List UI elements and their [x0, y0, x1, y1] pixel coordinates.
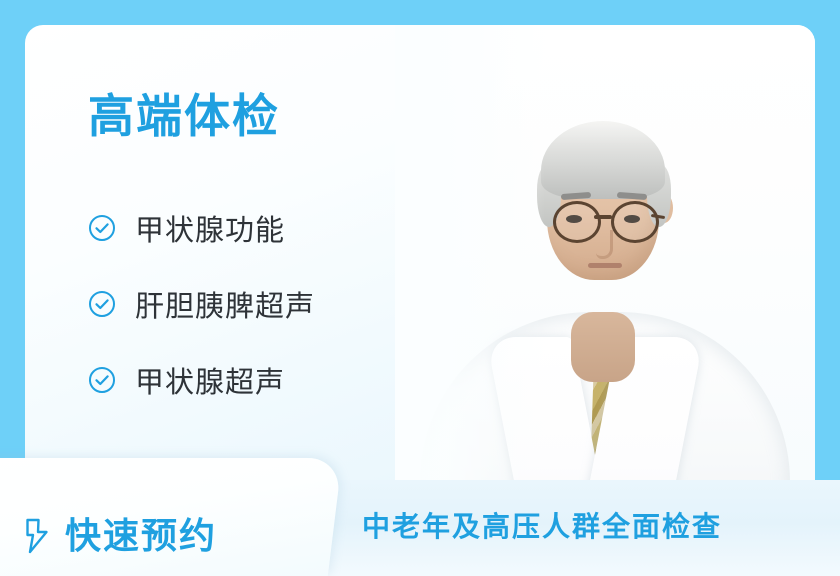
tagline: 中老年及高压人群全面检查 [362, 505, 722, 545]
feature-label: 甲状腺超声 [135, 359, 285, 401]
list-item[interactable]: 甲状腺超声 [88, 342, 315, 418]
check-circle-icon [88, 366, 116, 394]
check-circle-icon [88, 214, 116, 242]
feature-label: 肝胆胰脾超声 [135, 283, 315, 325]
check-circle-icon [88, 290, 116, 318]
list-item[interactable]: 肝胆胰脾超声 [88, 266, 315, 342]
bottom-bar: 快速预约 中老年及高压人群全面检查 [0, 480, 840, 576]
quick-booking-label: 快速预约 [65, 518, 217, 554]
feature-label: 甲状腺功能 [135, 207, 285, 249]
eyeglass-bridge [594, 215, 612, 219]
eyeglass-lens-right [611, 201, 659, 243]
quick-booking-button[interactable]: 快速预约 [22, 518, 217, 554]
health-checkup-promo-banner: 高端体检 甲状腺功能 肝胆胰脾超声 [0, 0, 840, 576]
feature-list: 甲状腺功能 肝胆胰脾超声 甲状腺超声 [88, 190, 315, 418]
nose [596, 230, 613, 259]
lightning-bolt-icon [22, 518, 52, 554]
eyeglass-lens-left [553, 201, 601, 243]
mouth [588, 263, 622, 268]
list-item[interactable]: 甲状腺功能 [88, 190, 315, 266]
page-title: 高端体检 [88, 93, 280, 139]
neck [571, 312, 635, 382]
